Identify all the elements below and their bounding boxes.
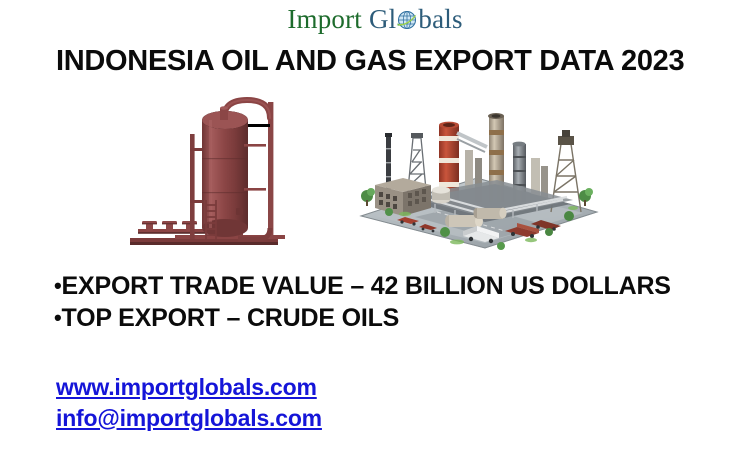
- website-link[interactable]: www.importglobals.com: [56, 372, 322, 403]
- email-link[interactable]: info@importglobals.com: [56, 403, 322, 434]
- slide-canvas: Import Gl bals INDONESIA OIL AND GAS EXP…: [0, 0, 750, 450]
- contact-block: www.importglobals.com info@importglobals…: [56, 372, 322, 433]
- brand-name-gl: Gl: [369, 4, 396, 34]
- page-title: INDONESIA OIL AND GAS EXPORT DATA 2023: [56, 46, 706, 77]
- brand-name-bals: bals: [418, 4, 462, 34]
- brand-name-import: Import: [287, 4, 362, 34]
- bullet-marker-icon: •: [54, 305, 62, 330]
- bullet-marker-icon: •: [54, 273, 62, 298]
- export-trade-value-text: EXPORT TRADE VALUE – 42 BILLION US DOLLA…: [62, 272, 671, 300]
- globe-icon: [396, 9, 418, 31]
- oil-separator-vessel-image: [120, 88, 310, 254]
- key-facts-list: •EXPORT TRADE VALUE – 42 BILLION US DOLL…: [54, 270, 734, 334]
- list-item: •EXPORT TRADE VALUE – 42 BILLION US DOLL…: [54, 270, 734, 302]
- refinery-complex-image: [345, 100, 610, 252]
- brand-logo: Import Gl bals: [0, 6, 750, 33]
- top-export-text: TOP EXPORT – CRUDE OILS: [62, 304, 400, 332]
- list-item: •TOP EXPORT – CRUDE OILS: [54, 302, 734, 334]
